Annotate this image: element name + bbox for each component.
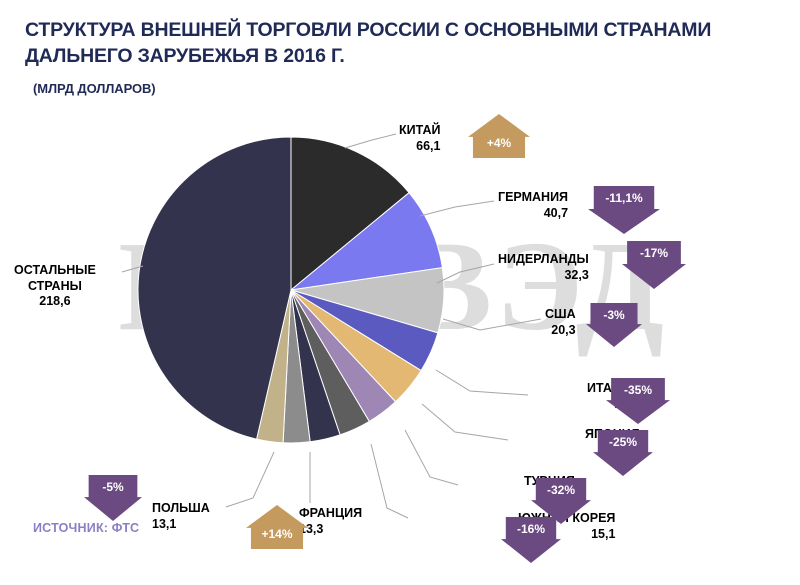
leader-line bbox=[437, 264, 494, 283]
leader-line bbox=[422, 404, 508, 440]
slice-label-value: 32,3 bbox=[498, 268, 589, 284]
leader-line bbox=[122, 266, 143, 272]
slice-label-name: ФРАНЦИЯ bbox=[299, 506, 362, 522]
change-arrow-up-icon: +14% bbox=[246, 505, 308, 549]
slice-label: КИТАЙ66,1 bbox=[399, 123, 440, 154]
slice-label-name: ГЕРМАНИЯ bbox=[498, 190, 568, 206]
slice-label-value: 13,3 bbox=[299, 522, 362, 538]
slice-label-value: 13,1 bbox=[152, 517, 210, 533]
leader-line bbox=[420, 201, 494, 216]
arrow-shape bbox=[84, 475, 142, 521]
slice-label: США20,3 bbox=[545, 307, 576, 338]
slice-label-value: 20,3 bbox=[545, 323, 576, 339]
slice-label-value: 66,1 bbox=[399, 139, 440, 155]
leader-line bbox=[226, 452, 274, 507]
leader-line bbox=[405, 430, 458, 485]
arrow-shape bbox=[586, 303, 642, 347]
slice-label-name: ПОЛЬША bbox=[152, 501, 210, 517]
arrow-shape bbox=[468, 114, 530, 158]
arrow-shape bbox=[593, 430, 653, 476]
infographic-canvas: СТРУКТУРА ВНЕШНЕЙ ТОРГОВЛИ РОССИИ С ОСНО… bbox=[0, 0, 800, 585]
source-note: ИСТОЧНИК: ФТС bbox=[33, 521, 139, 535]
arrow-shape bbox=[606, 378, 670, 424]
arrow-shape bbox=[246, 505, 308, 549]
slice-label-value: 218,6 bbox=[14, 294, 96, 310]
arrow-shape bbox=[588, 186, 660, 234]
arrow-shape bbox=[622, 241, 686, 289]
change-arrow-down-icon: -17% bbox=[622, 241, 686, 289]
slice-label-name: НИДЕРЛАНДЫ bbox=[498, 252, 589, 268]
change-arrow-down-icon: -35% bbox=[606, 378, 670, 424]
change-arrow-down-icon: -25% bbox=[593, 430, 653, 476]
leader-line bbox=[443, 319, 541, 330]
change-arrow-down-icon: -16% bbox=[501, 517, 561, 563]
slice-label: ПОЛЬША13,1 bbox=[152, 501, 210, 532]
slice-label-name: США bbox=[545, 307, 576, 323]
slice-label: НИДЕРЛАНДЫ32,3 bbox=[498, 252, 589, 283]
leader-line bbox=[371, 444, 408, 518]
slice-label-name: КИТАЙ bbox=[399, 123, 440, 139]
slice-label: ОСТАЛЬНЫЕСТРАНЫ218,6 bbox=[14, 263, 96, 310]
change-arrow-up-icon: +4% bbox=[468, 114, 530, 158]
slice-label-value: 40,7 bbox=[498, 206, 568, 222]
slice-label: ГЕРМАНИЯ40,7 bbox=[498, 190, 568, 221]
slice-label: ФРАНЦИЯ13,3 bbox=[299, 506, 362, 537]
leader-line bbox=[345, 134, 396, 148]
slice-label-name: ОСТАЛЬНЫЕСТРАНЫ bbox=[14, 263, 96, 294]
change-arrow-down-icon: -11,1% bbox=[588, 186, 660, 234]
arrow-shape bbox=[501, 517, 561, 563]
change-arrow-down-icon: -3% bbox=[586, 303, 642, 347]
change-arrow-down-icon: -5% bbox=[84, 475, 142, 521]
leader-line bbox=[436, 370, 528, 395]
